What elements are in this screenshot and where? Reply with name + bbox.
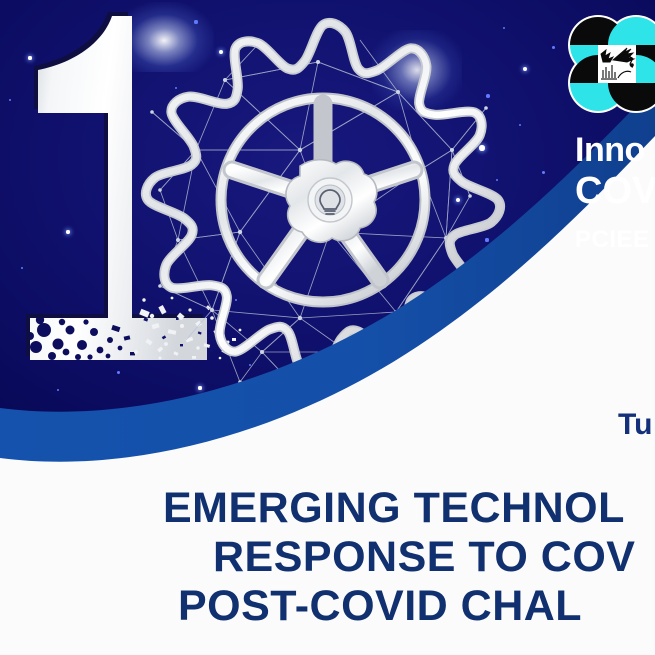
title-line-2: RESPONSE TO COV [213,536,635,579]
title-line-1: EMERGING TECHNOL [163,487,625,530]
logo-text-line-1: Inno [575,133,645,167]
gear-center-cluster [286,160,377,243]
event-banner-poster: Inno COV PCIEE Tu EMERGING TECHNOL RESPO… [0,0,655,655]
title-line-3: POST-COVID CHAL [178,585,582,628]
starfield-hero-section [0,0,655,470]
event-date-text: Tu [618,408,652,442]
logo-text-line-2: COV [575,172,655,210]
pcieerd-four-circle-logo [565,12,655,116]
wireframe-gear-numeral-zero [0,0,655,470]
logo-text-line-3: PCIEE [575,228,650,252]
